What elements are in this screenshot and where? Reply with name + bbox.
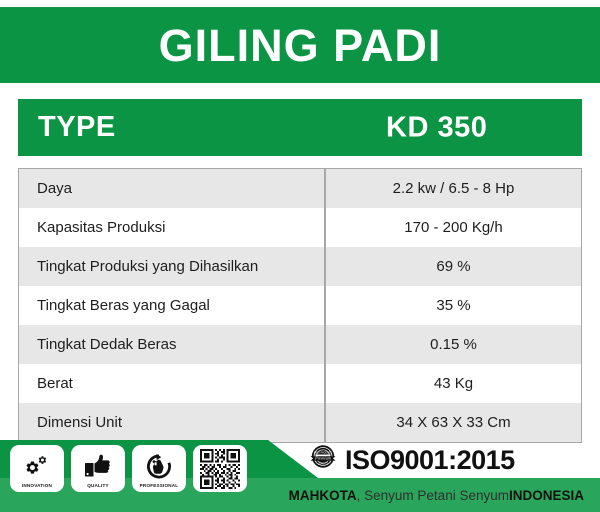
table-row: Kapasitas Produksi170 - 200 Kg/h [19,208,581,247]
type-label: TYPE [38,111,116,144]
spec-table: Daya2.2 kw / 6.5 - 8 HpKapasitas Produks… [18,168,582,443]
tagline-country: INDONESIA [509,488,584,503]
table-row: Dimensi Unit34 X 63 X 33 Cm [19,403,581,442]
brand-tagline: MAHKOTA, Senyum Petani Senyum INDONESIA [0,478,600,512]
svg-text:Premium: Premium [314,455,331,460]
table-row: Tingkat Beras yang Gagal35 % [19,286,581,325]
spec-key: Tingkat Dedak Beras [19,325,326,364]
spec-value: 170 - 200 Kg/h [326,208,581,247]
spec-value: 34 X 63 X 33 Cm [326,403,581,442]
table-row: Tingkat Dedak Beras0.15 % [19,325,581,364]
fist-arrow-icon [144,451,174,482]
premium-seal-icon: Premium BEST PRODUCT QUALITY [306,443,340,478]
spec-key: Tingkat Beras yang Gagal [19,286,326,325]
spec-value: 35 % [326,286,581,325]
spec-key: Dimensi Unit [19,403,326,442]
table-row: Tingkat Produksi yang Dihasilkan69 % [19,247,581,286]
tagline-brand: MAHKOTA [289,488,357,503]
gears-icon [22,451,52,482]
type-bar: TYPE KD 350 [18,99,582,156]
spec-key: Berat [19,364,326,403]
footer: INNOVATION QUALITY [0,440,600,512]
iso-certification: Premium BEST PRODUCT QUALITY ISO9001:201… [306,442,515,478]
spec-value: 2.2 kw / 6.5 - 8 Hp [326,169,581,208]
spec-key: Daya [19,169,326,208]
table-row: Daya2.2 kw / 6.5 - 8 Hp [19,169,581,208]
header-bar: GILING PADI [0,7,600,83]
thumbs-up-icon [83,451,113,482]
tagline-middle: , Senyum Petani Senyum [357,488,509,503]
spec-key: Tingkat Produksi yang Dihasilkan [19,247,326,286]
product-spec-poster: GILING PADI TYPE KD 350 Daya2.2 kw / 6.5… [0,0,600,512]
table-row: Berat43 Kg [19,364,581,403]
spec-value: 69 % [326,247,581,286]
spec-value: 0.15 % [326,325,581,364]
iso-standard-label: ISO9001:2015 [345,445,515,476]
type-value: KD 350 [386,111,487,144]
page-title: GILING PADI [159,23,442,68]
spec-key: Kapasitas Produksi [19,208,326,247]
svg-text:QUALITY: QUALITY [318,462,328,465]
spec-value: 43 Kg [326,364,581,403]
svg-text:BEST PRODUCT: BEST PRODUCT [314,452,333,454]
